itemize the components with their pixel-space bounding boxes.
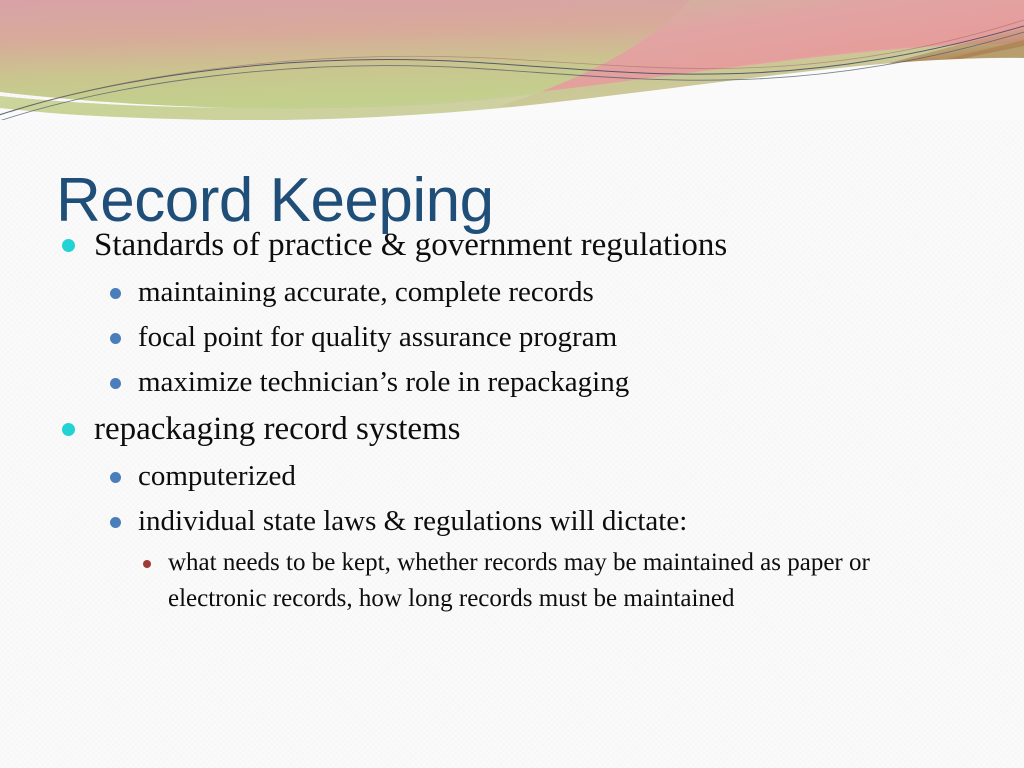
bullet-text: computerized	[138, 455, 1024, 498]
slide-canvas: Record Keeping Standards of practice & g…	[0, 0, 1024, 768]
bullet-item-level2: focal point for quality assurance progra…	[0, 316, 1024, 359]
bullet-item-level1: repackaging record systems	[0, 406, 1024, 453]
bullet-dot-blue-icon	[110, 378, 121, 389]
bullet-dot-blue-icon	[110, 472, 121, 483]
bullet-text: maintaining accurate, complete records	[138, 271, 1024, 314]
bullet-item-level2: maintaining accurate, complete records	[0, 271, 1024, 314]
bullet-dot-red-icon	[143, 560, 151, 568]
bullet-dot-teal-icon	[62, 239, 75, 252]
header-wave-graphic	[0, 0, 1024, 120]
bullet-item-level1: Standards of practice & government regul…	[0, 222, 1024, 269]
bullet-item-level3: what needs to be kept, whether records m…	[0, 545, 1024, 617]
bullet-dot-blue-icon	[110, 288, 121, 299]
bullet-dot-blue-icon	[110, 517, 121, 528]
bullet-dot-blue-icon	[110, 333, 121, 344]
slide-body: Standards of practice & government regul…	[0, 222, 1024, 617]
bullet-text: Standards of practice & government regul…	[94, 222, 1024, 269]
bullet-text: individual state laws & regulations will…	[138, 500, 1024, 543]
bullet-text: repackaging record systems	[94, 406, 1024, 453]
bullet-item-level2: individual state laws & regulations will…	[0, 500, 1024, 543]
bullet-text: what needs to be kept, whether records m…	[168, 545, 960, 617]
bullet-dot-teal-icon	[62, 423, 75, 436]
bullet-text: focal point for quality assurance progra…	[138, 316, 1024, 359]
bullet-item-level2: maximize technician’s role in repackagin…	[0, 361, 1024, 404]
bullet-item-level2: computerized	[0, 455, 1024, 498]
bullet-text: maximize technician’s role in repackagin…	[138, 361, 1024, 404]
